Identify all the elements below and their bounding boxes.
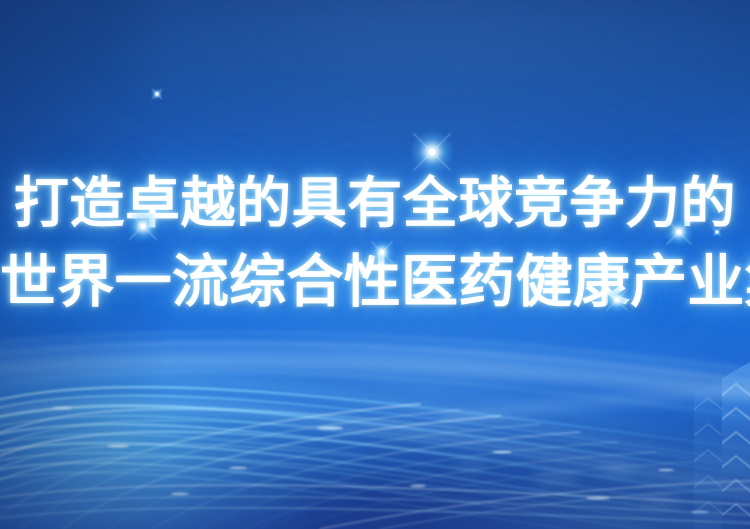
light-streak-waves <box>0 0 750 529</box>
headline-line-2: 世界一流综合性医药健康产业集团 <box>0 250 750 314</box>
sparkle-dot-right <box>708 225 726 239</box>
headline-line-1: 打造卓越的具有全球竞争力的 <box>0 172 750 234</box>
corporate-slogan-banner: 打造卓越的具有全球竞争力的 世界一流综合性医药健康产业集团 <box>0 0 750 529</box>
left-wave-crest-glow <box>0 330 370 529</box>
chevron-building-silhouette <box>0 0 750 529</box>
lens-flare-sparkles <box>0 0 750 529</box>
center-horizon-glow <box>150 300 710 470</box>
sparkle-dot-upper <box>145 85 169 104</box>
sparkle-line2-right <box>591 280 643 321</box>
headline-backlight-glow <box>60 120 700 350</box>
left-vignette <box>0 0 170 529</box>
sparkle-top-center <box>386 116 478 188</box>
bottom-left-glow <box>0 420 300 529</box>
top-sheen-glow <box>120 0 740 140</box>
sparkle-line1-right <box>649 209 709 256</box>
bottom-right-glow <box>430 455 750 529</box>
sparkle-line1-left <box>109 199 177 252</box>
sparkle-line2-center <box>356 232 408 273</box>
bottom-vignette <box>0 409 750 529</box>
